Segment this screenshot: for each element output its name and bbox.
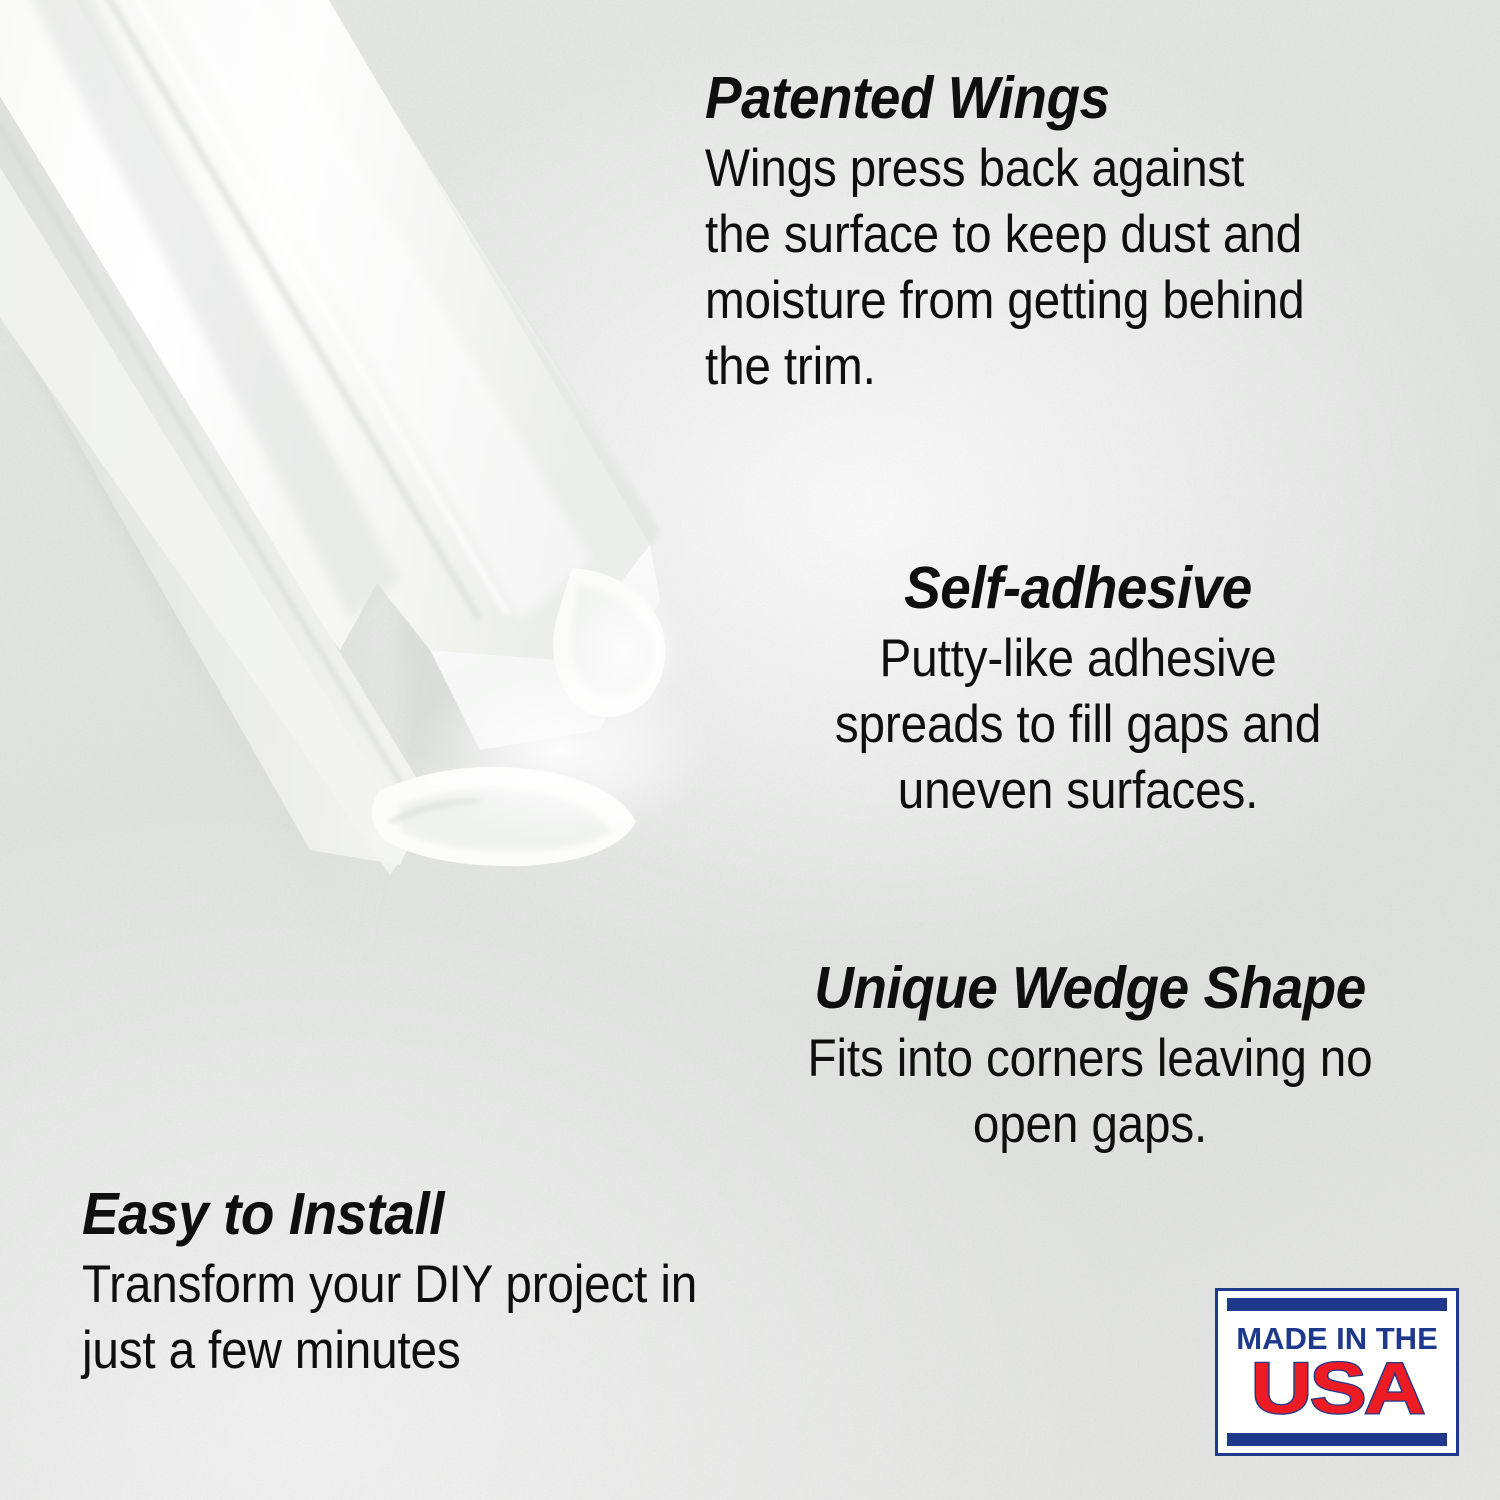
feature-body-self-adhesive: Putty-like adhesive spreads to fill gaps… bbox=[799, 626, 1357, 824]
feature-body-unique-wedge-shape: Fits into corners leaving no open gaps. bbox=[766, 1026, 1414, 1158]
badge-text-group: MADE IN THE USA bbox=[1227, 1311, 1447, 1433]
badge-inner: MADE IN THE USA bbox=[1218, 1291, 1456, 1453]
feature-block-self-adhesive: Self-adhesive Putty-like adhesive spread… bbox=[768, 558, 1388, 824]
product-photo-pvc-trim bbox=[0, 0, 780, 1020]
feature-block-easy-to-install: Easy to Install Transform your DIY proje… bbox=[82, 1184, 802, 1384]
feature-body-patented-wings: Wings press back against the surface to … bbox=[705, 136, 1317, 400]
badge-bottom-bar bbox=[1227, 1433, 1447, 1446]
bead-specular-glow bbox=[562, 580, 686, 720]
product-feature-infographic: Patented Wings Wings press back against … bbox=[0, 0, 1500, 1500]
feature-heading-easy-to-install: Easy to Install bbox=[82, 1184, 752, 1246]
feature-block-patented-wings: Patented Wings Wings press back against … bbox=[705, 68, 1385, 400]
feature-block-unique-wedge-shape: Unique Wedge Shape Fits into corners lea… bbox=[730, 958, 1450, 1158]
made-in-usa-badge: MADE IN THE USA bbox=[1215, 1288, 1459, 1456]
badge-usa-text: USA bbox=[1207, 1356, 1467, 1422]
badge-top-bar bbox=[1227, 1298, 1447, 1311]
feature-heading-self-adhesive: Self-adhesive bbox=[790, 558, 1367, 620]
feature-body-easy-to-install: Transform your DIY project in just a few… bbox=[82, 1252, 730, 1384]
feature-heading-patented-wings: Patented Wings bbox=[705, 68, 1337, 130]
feature-heading-unique-wedge-shape: Unique Wedge Shape bbox=[755, 958, 1425, 1020]
